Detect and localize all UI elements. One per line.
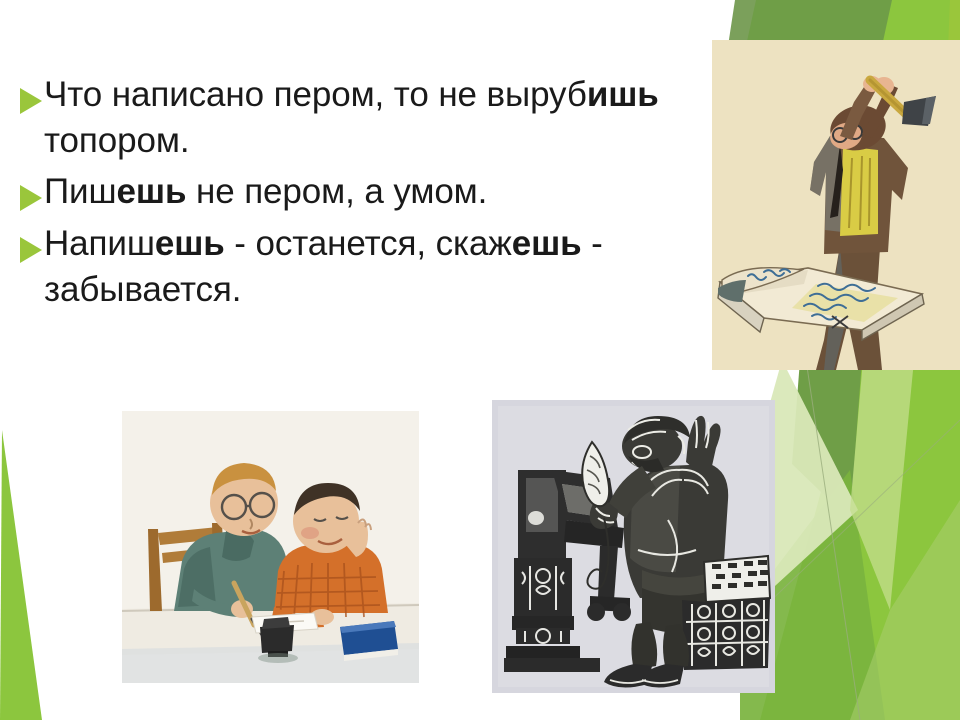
slide-body-text: Что написано пером, то не вырубишь топор… <box>18 72 686 318</box>
facet-light-sheet <box>850 360 914 610</box>
facet-dark-wedge <box>792 360 862 520</box>
presentation-slide: Что написано пером, то не вырубишь топор… <box>0 0 960 720</box>
list-item: Напишешь - останется, скажешь - забывает… <box>18 221 686 312</box>
bullet-text-3: Напишешь - останется, скажешь - забывает… <box>44 221 686 312</box>
man-with-axe-over-book-illustration <box>712 40 960 370</box>
bullet-text-1: Что написано пером, то не вырубишь топор… <box>44 72 686 163</box>
facet-bright-base <box>760 360 960 720</box>
list-item: Что написано пером, то не вырубишь топор… <box>18 72 686 163</box>
triangle-bullet-icon <box>18 233 44 267</box>
list-item: Пишешь не пером, а умом. <box>18 169 686 215</box>
triangle-bullet-icon <box>18 84 44 118</box>
medieval-scribe-with-quill-illustration <box>492 400 775 693</box>
facet-wash <box>850 500 960 720</box>
facet-hairline-vertical <box>806 360 860 720</box>
triangle-bullet-icon <box>18 181 44 215</box>
bullet-text-2: Пишешь не пером, а умом. <box>44 169 686 215</box>
bottom-left-green-wedge <box>0 420 60 720</box>
two-schoolboys-writing-illustration <box>122 411 419 683</box>
